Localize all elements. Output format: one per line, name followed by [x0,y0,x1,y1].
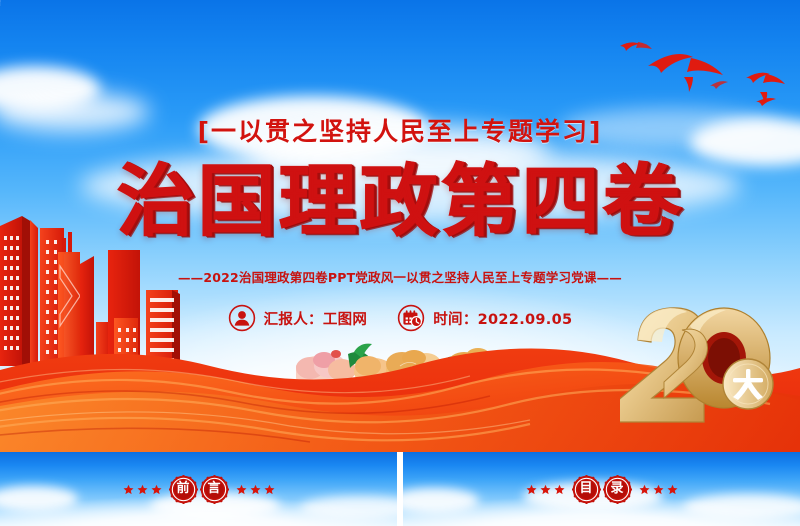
thumbnail-strip: 前 [0,452,800,526]
star-icon [137,484,148,495]
star-icon [653,484,664,495]
seal-badge-icon: 前 [169,475,198,504]
person-icon [228,304,256,332]
description-line: ——2022治国理政第四卷PPT党政风一以贯之坚持人民至上专题学习党课—— [0,267,800,286]
seal-char: 言 [200,475,229,504]
thumbnail-contents[interactable]: 目 [403,452,800,526]
star-icon [264,484,275,495]
slide-text-block: [一以贯之坚持人民至上专题学习] 治国理政第四卷 ——2022治国理政第四卷PP… [0,0,800,452]
star-icon [540,484,551,495]
seal-char: 前 [169,475,198,504]
page-title: 治国理政第四卷 [0,160,800,244]
subtitle-bracket-line: [一以贯之坚持人民至上专题学习] [0,112,800,148]
seal-badge-icon: 言 [200,475,229,504]
stars-right-2 [639,484,678,495]
thumb-center-1: 前 [0,452,397,526]
stars-right-1 [236,484,275,495]
star-icon [639,484,650,495]
main-slide[interactable]: [一以贯之坚持人民至上专题学习] 治国理政第四卷 ——2022治国理政第四卷PP… [0,0,800,452]
meta-row: 汇报人：工图网 [0,304,800,332]
stars-left-2 [526,484,565,495]
star-icon [236,484,247,495]
seal-group-1: 前 [169,475,229,504]
star-icon [526,484,537,495]
seal-char: 录 [603,475,632,504]
presenter-item: 汇报人：工图网 [228,304,368,332]
presenter-text: 汇报人：工图网 [264,308,368,329]
date-text: 时间：2022.09.05 [433,308,572,329]
seal-badge-icon: 目 [572,475,601,504]
star-icon [554,484,565,495]
calendar-clock-icon [397,304,425,332]
seal-group-2: 目 [572,475,632,504]
seal-badge-icon: 录 [603,475,632,504]
thumb-center-2: 目 [403,452,800,526]
star-icon [151,484,162,495]
star-icon [123,484,134,495]
date-item: 时间：2022.09.05 [397,304,572,332]
stars-left-1 [123,484,162,495]
thumbnail-preface[interactable]: 前 [0,452,397,526]
star-icon [667,484,678,495]
seal-char: 目 [572,475,601,504]
ppt-cover-preview: [一以贯之坚持人民至上专题学习] 治国理政第四卷 ——2022治国理政第四卷PP… [0,0,800,526]
star-icon [250,484,261,495]
